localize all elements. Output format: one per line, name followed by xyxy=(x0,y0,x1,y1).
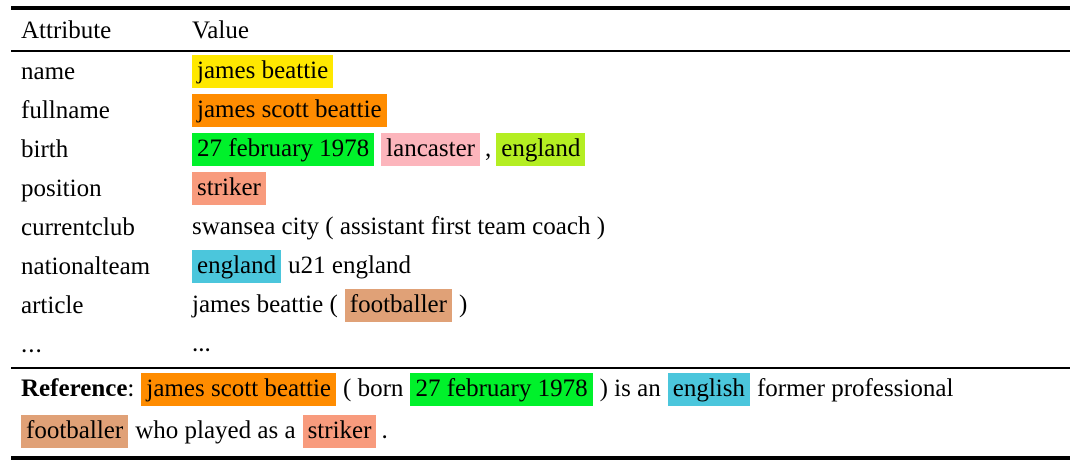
value-cell: james beattie (footballer) xyxy=(192,286,467,325)
attribute-cell: ... xyxy=(21,325,43,364)
table-row: namejames beattie xyxy=(0,52,1080,91)
value-cell: swansea city ( assistant first team coac… xyxy=(192,208,605,247)
column-header-attribute: Attribute xyxy=(21,14,111,48)
highlighted-span: striker xyxy=(303,415,377,448)
reference-line: footballerwho played as astriker. xyxy=(0,415,1080,457)
table-figure: Attribute Value namejames beattiefullnam… xyxy=(0,0,1080,469)
attribute-cell: fullname xyxy=(21,91,110,130)
table-row: fullnamejames scott beattie xyxy=(0,91,1080,130)
table-row: nationalteamenglandu21 england xyxy=(0,247,1080,286)
value-cell: ... xyxy=(192,325,211,364)
text-span: ( born xyxy=(343,373,403,406)
table-row: ...... xyxy=(0,325,1080,364)
text-span: , xyxy=(485,133,491,166)
text-span: swansea city ( assistant first team coac… xyxy=(192,211,605,244)
reference-block: Reference:james scott beattie( born27 fe… xyxy=(0,373,1080,457)
rule-above-reference xyxy=(11,367,1070,369)
text-span: . xyxy=(381,415,387,448)
highlighted-span: james scott beattie xyxy=(141,373,336,406)
reference-line: Reference:james scott beattie( born27 fe… xyxy=(0,373,1080,415)
highlighted-span: england xyxy=(496,133,585,166)
highlighted-span: english xyxy=(668,373,750,406)
rule-top xyxy=(11,6,1070,10)
table-row: positionstriker xyxy=(0,169,1080,208)
column-header-value: Value xyxy=(192,14,249,48)
table-body: namejames beattiefullnamejames scott bea… xyxy=(0,52,1080,364)
text-span: u21 england xyxy=(288,250,411,283)
value-cell: james scott beattie xyxy=(192,91,387,130)
text-span: james beattie ( xyxy=(192,289,338,322)
highlighted-span: james beattie xyxy=(192,55,333,88)
attribute-cell: nationalteam xyxy=(21,247,150,286)
highlighted-span: footballer xyxy=(345,289,452,322)
value-cell: striker xyxy=(192,169,266,208)
highlighted-span: 27 february 1978 xyxy=(192,133,374,166)
highlighted-span: england xyxy=(192,250,281,283)
table-row: currentclubswansea city ( assistant firs… xyxy=(0,208,1080,247)
text-span: who played as a xyxy=(135,415,295,448)
attribute-cell: birth xyxy=(21,130,68,169)
text-span: ... xyxy=(192,328,211,361)
highlighted-span: 27 february 1978 xyxy=(410,373,592,406)
value-cell: james beattie xyxy=(192,52,333,91)
attribute-cell: article xyxy=(21,286,83,325)
attribute-cell: name xyxy=(21,52,75,91)
attribute-cell: currentclub xyxy=(21,208,135,247)
value-cell: englandu21 england xyxy=(192,247,411,286)
reference-colon: : xyxy=(127,375,134,402)
reference-label: Reference xyxy=(21,375,127,402)
text-span: former professional xyxy=(757,373,953,406)
highlighted-span: footballer xyxy=(21,415,128,448)
attribute-cell: position xyxy=(21,169,102,208)
highlighted-span: james scott beattie xyxy=(192,94,387,127)
highlighted-span: lancaster xyxy=(381,133,480,166)
text-span: ) is an xyxy=(600,373,661,406)
value-cell: 27 february 1978lancaster,england xyxy=(192,130,585,169)
table-row: birth27 february 1978lancaster,england xyxy=(0,130,1080,169)
table-header-row: Attribute Value xyxy=(0,14,1080,48)
table-row: articlejames beattie (footballer) xyxy=(0,286,1080,325)
highlighted-span: striker xyxy=(192,172,266,205)
text-span: ) xyxy=(459,289,467,322)
